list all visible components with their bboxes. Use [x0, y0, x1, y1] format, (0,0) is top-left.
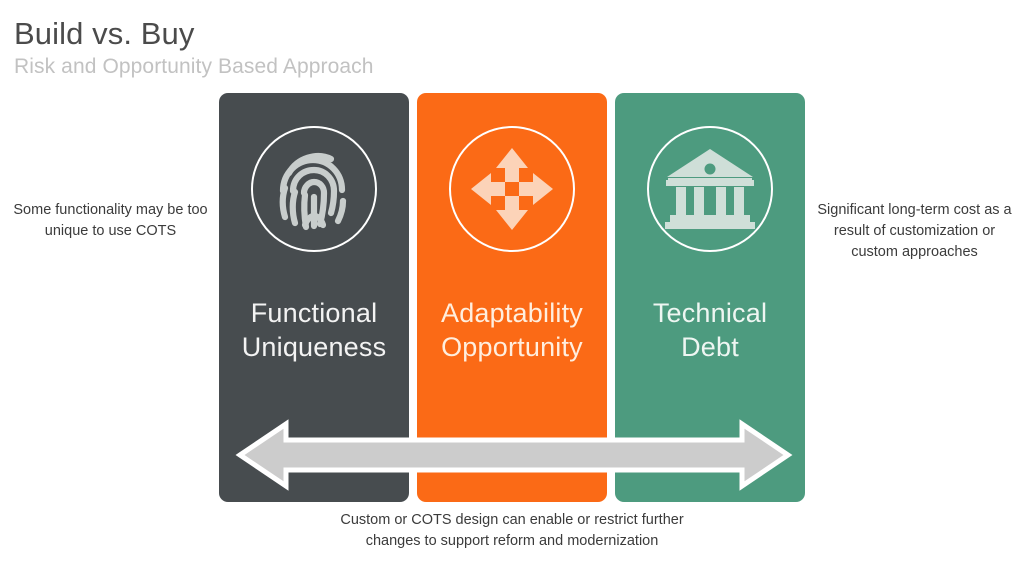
- card-label-line-1: Adaptability: [417, 296, 607, 330]
- annotation-left: Some functionality may be too unique to …: [8, 200, 213, 242]
- card-label-line-2: Opportunity: [417, 330, 607, 364]
- card-label-functional-uniqueness: Functional Uniqueness: [219, 296, 409, 364]
- annotation-right: Significant long-term cost as a result o…: [812, 200, 1017, 263]
- page-subtitle: Risk and Opportunity Based Approach: [14, 54, 654, 80]
- header: Build vs. Buy Risk and Opportunity Based…: [14, 16, 654, 80]
- card-technical-debt[interactable]: Technical Debt: [615, 93, 805, 502]
- card-label-adaptability-opportunity: Adaptability Opportunity: [417, 296, 607, 364]
- caption-bottom: Custom or COTS design can enable or rest…: [312, 510, 712, 552]
- bank-building-icon: [647, 126, 773, 252]
- four-way-arrows-icon: [449, 126, 575, 252]
- card-label-line-2: Debt: [615, 330, 805, 364]
- page-title: Build vs. Buy: [14, 16, 654, 52]
- card-label-technical-debt: Technical Debt: [615, 296, 805, 364]
- card-label-line-1: Technical: [615, 296, 805, 330]
- card-adaptability-opportunity[interactable]: Adaptability Opportunity: [417, 93, 607, 502]
- fingerprint-icon: [251, 126, 377, 252]
- card-functional-uniqueness[interactable]: Functional Uniqueness: [219, 93, 409, 502]
- card-label-line-2: Uniqueness: [219, 330, 409, 364]
- card-label-line-1: Functional: [219, 296, 409, 330]
